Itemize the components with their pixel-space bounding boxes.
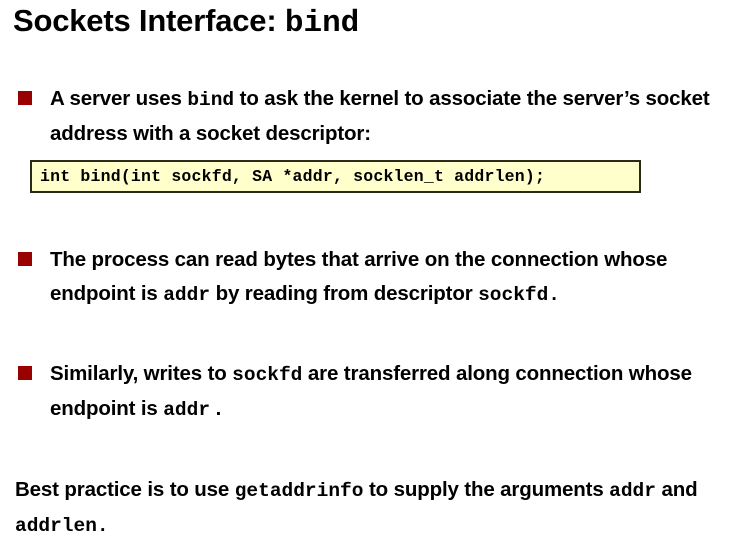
slide-body: A server uses bind to ask the kernel to … — [0, 0, 751, 551]
inline-code: sockfd — [232, 364, 302, 386]
inline-code: sockfd. — [478, 284, 560, 306]
bullet-marker-1 — [18, 91, 32, 105]
inline-text: by reading from descriptor — [210, 282, 478, 305]
inline-text: Similarly, writes to — [50, 362, 232, 385]
inline-code: addr — [163, 399, 210, 421]
inline-code: addr — [163, 284, 210, 306]
bullet-text-3: Similarly, writes to sockfd are transfer… — [50, 357, 740, 427]
inline-code: getaddrinfo — [235, 480, 364, 502]
code-signature-box: int bind(int sockfd, SA *addr, socklen_t… — [30, 160, 641, 193]
code-signature-text: int bind(int sockfd, SA *addr, socklen_t… — [32, 167, 545, 186]
inline-text: A server uses — [50, 87, 187, 110]
inline-text: to supply the arguments — [363, 478, 609, 501]
bullet-text-2: The process can read bytes that arrive o… — [50, 243, 750, 312]
inline-code: addrlen. — [15, 515, 109, 537]
bullet-marker-3 — [18, 366, 32, 380]
inline-text: and — [656, 478, 698, 501]
inline-text: . — [210, 397, 221, 420]
inline-code: addr — [609, 480, 656, 502]
inline-code: bind — [187, 89, 234, 111]
closing-paragraph: Best practice is to use getaddrinfo to s… — [15, 473, 735, 543]
bullet-marker-2 — [18, 252, 32, 266]
inline-text: Best practice is to use — [15, 478, 235, 501]
bullet-text-1: A server uses bind to ask the kernel to … — [50, 82, 730, 151]
slide: Sockets Interface: bind A server uses bi… — [0, 0, 751, 551]
